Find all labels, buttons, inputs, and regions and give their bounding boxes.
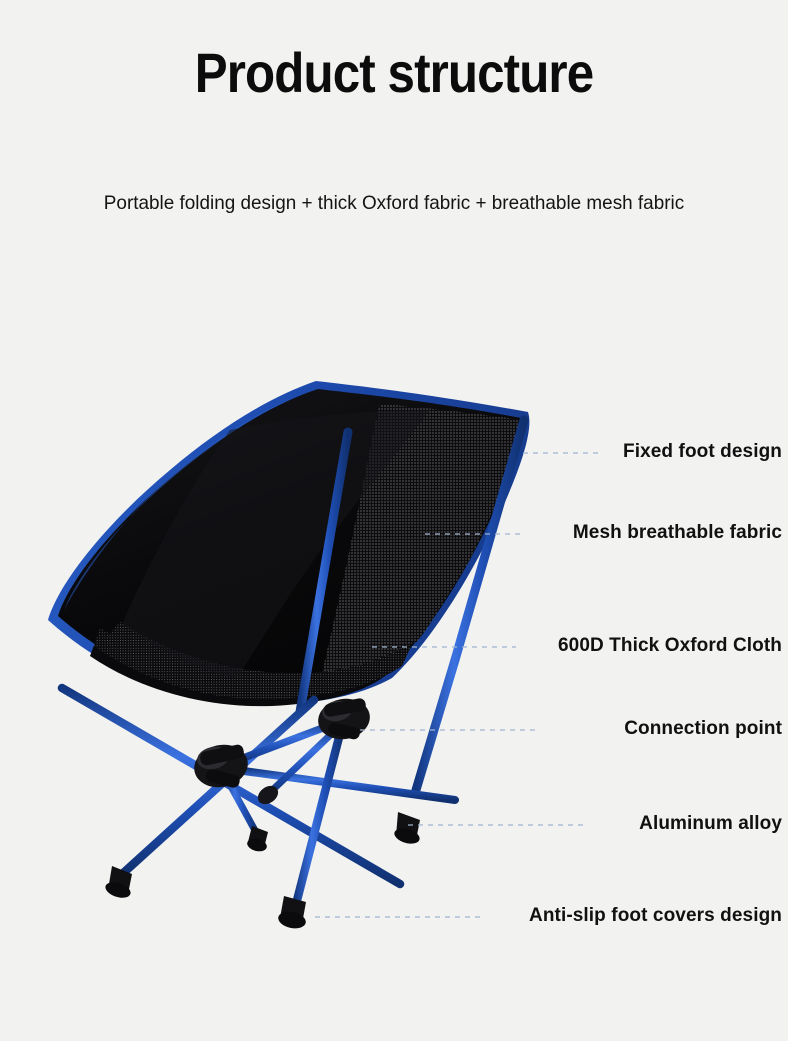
- foot-cover-left: [103, 866, 132, 901]
- page-subtitle: Portable folding design + thick Oxford f…: [12, 192, 776, 215]
- callout-anti-slip-foot-covers-design: Anti-slip foot covers design: [529, 905, 782, 927]
- callout-aluminum-alloy: Aluminum alloy: [639, 813, 782, 835]
- callout-fixed-foot-design: Fixed foot design: [623, 441, 782, 463]
- chair-illustration: [0, 0, 788, 1041]
- foot-cover-rear: [246, 826, 268, 853]
- leader-lines: [315, 453, 598, 917]
- connection-hub-right: [315, 695, 373, 743]
- product-structure-page: Product structure Portable folding desig…: [0, 0, 788, 1041]
- strut-clamp: [254, 782, 281, 808]
- callout-mesh-breathable-fabric: Mesh breathable fabric: [573, 522, 782, 544]
- foot-cover-front: [277, 896, 308, 931]
- connection-hub-left: [190, 740, 252, 792]
- callout-600d-thick-oxford-cloth: 600D Thick Oxford Cloth: [558, 635, 782, 657]
- foot-cover-right: [393, 812, 422, 846]
- page-title: Product structure: [47, 44, 740, 103]
- callout-connection-point: Connection point: [624, 718, 782, 740]
- chair-leg-frame: [62, 688, 455, 912]
- chair-fabric-shell: [48, 381, 529, 706]
- chair-right-side-pole: [416, 420, 524, 790]
- chair-front-left-pole: [300, 432, 348, 712]
- chair-rear-pole: [246, 430, 300, 700]
